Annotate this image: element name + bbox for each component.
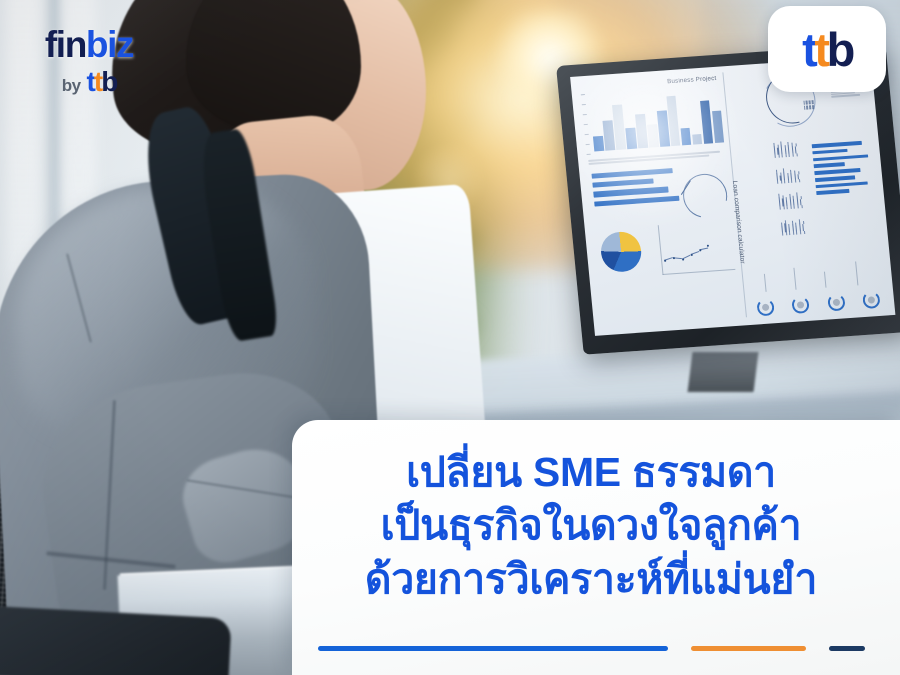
candlestick-row <box>781 219 805 233</box>
donut-stalk <box>824 272 826 288</box>
donut-stalk <box>764 274 766 292</box>
mini-donut-chart <box>792 296 811 314</box>
rule-navy <box>829 646 865 651</box>
banner-canvas: Business Project <box>0 0 900 675</box>
rule-blue <box>318 646 668 651</box>
accent-rule-group <box>292 646 890 651</box>
candlestick-row <box>773 141 797 155</box>
monitor-stand <box>688 352 759 392</box>
office-chair-armrest <box>0 606 232 675</box>
headline-line-3: ด้วยการวิเคราะห์ที่แม่นยำ <box>292 553 890 606</box>
ttb-badge-b: b <box>827 23 852 76</box>
finbiz-wordmark: finbiz <box>24 26 154 63</box>
right-horizontal-bars <box>812 140 874 198</box>
dashboard-right-column: Loan comparison calculator <box>728 63 886 319</box>
finbiz-fin-text: fin <box>45 24 86 65</box>
dashboard-left-column: Business Project <box>579 73 744 330</box>
rule-orange <box>691 646 806 651</box>
finbiz-logo[interactable]: finbiz by ttb <box>24 26 154 96</box>
gauge-needle <box>681 180 691 195</box>
by-label: by <box>62 77 81 94</box>
headline-line-2: เป็นธุรกิจในดวงใจลูกค้า <box>292 499 890 552</box>
line-chart-y-axis <box>658 225 663 275</box>
gauge-chart <box>675 166 736 227</box>
hair-top <box>186 0 361 135</box>
pie-chart <box>599 231 643 274</box>
ttb-t1: t <box>87 66 94 97</box>
line-chart-x-axis <box>662 269 735 275</box>
horizontal-bar-chart <box>591 168 679 211</box>
mini-donut-chart <box>827 293 846 311</box>
bar-chart <box>589 85 725 152</box>
headline-line-1: เปลี่ยน SME ธรรมดา <box>292 446 890 499</box>
finbiz-biz-text: biz <box>86 24 133 65</box>
line-chart <box>658 220 736 275</box>
candlestick-row <box>778 193 802 207</box>
candlestick-row <box>776 167 800 181</box>
headline-block: เปลี่ยน SME ธรรมดา เป็นธุรกิจในดวงใจลูกค… <box>292 446 890 606</box>
monitor-screen: Business Project <box>570 56 895 336</box>
dashboard-title: Business Project <box>667 75 717 85</box>
dashboard: Business Project <box>570 56 895 336</box>
mini-donut-row <box>756 291 880 317</box>
ttb-logo-badge[interactable]: ttb <box>768 6 886 92</box>
mini-donut-chart <box>756 298 775 316</box>
mini-donut-chart <box>862 291 881 309</box>
ttb-wordmark-small: ttb <box>87 68 117 96</box>
ttb-wordmark: ttb <box>802 26 852 73</box>
dot-matrix <box>803 100 815 110</box>
donut-stalk <box>855 261 858 285</box>
ttb-b: b <box>101 66 116 97</box>
ttb-badge-t2: t <box>814 23 826 76</box>
ttb-badge-t1: t <box>802 23 814 76</box>
headline-panel: เปลี่ยน SME ธรรมดา เป็นธุรกิจในดวงใจลูกค… <box>292 420 900 675</box>
finbiz-byline: by ttb <box>24 68 154 96</box>
dashboard-paragraph <box>588 150 726 166</box>
donut-stalk <box>793 268 796 290</box>
